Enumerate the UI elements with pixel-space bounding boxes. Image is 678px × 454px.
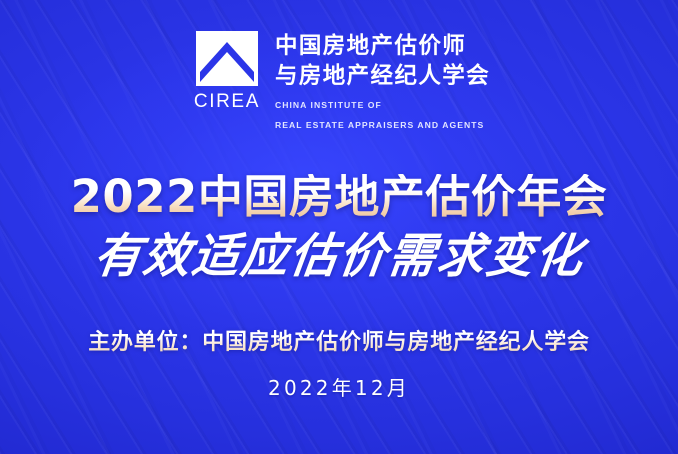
conference-poster: CIREA 中国房地产估价师 与房地产经纪人学会 CHINA INSTITUTE… xyxy=(0,0,678,454)
logo-english-line-1: CHINA INSTITUTE OF xyxy=(275,99,490,112)
logo-mark: CIREA xyxy=(194,31,260,111)
organiser-line: 主办单位：中国房地产估价师与房地产经纪人学会 xyxy=(88,324,590,356)
logo-chinese-line-1: 中国房地产估价师 xyxy=(275,32,490,62)
logo-text-block: 中国房地产估价师 与房地产经纪人学会 CHINA INSTITUTE OF RE… xyxy=(275,31,490,131)
poster-subheadline: 有效适应估价需求变化 xyxy=(91,231,587,284)
logo-chinese-line-2: 与房地产经纪人学会 xyxy=(275,62,490,92)
logo-english-line-2: REAL ESTATE APPRAISERS AND AGENTS xyxy=(275,119,490,132)
poster-headline: 2022中国房地产估价年会 xyxy=(71,174,608,219)
poster-content: CIREA 中国房地产估价师 与房地产经纪人学会 CHINA INSTITUTE… xyxy=(0,0,678,454)
event-date: 2022年12月 xyxy=(268,372,410,401)
cirea-house-logo-icon xyxy=(196,31,258,86)
organisation-logo-block: CIREA 中国房地产估价师 与房地产经纪人学会 CHINA INSTITUTE… xyxy=(194,31,490,131)
logo-abbreviation: CIREA xyxy=(194,92,260,111)
